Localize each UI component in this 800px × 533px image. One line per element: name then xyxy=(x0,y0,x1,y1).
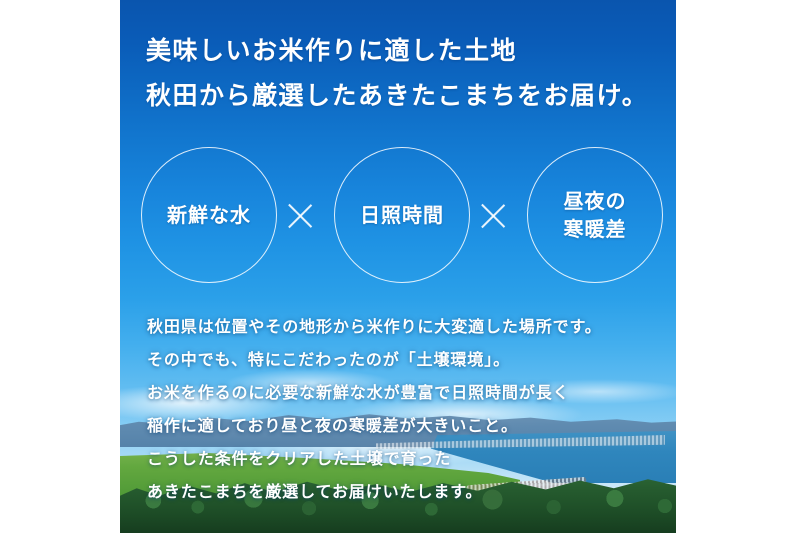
feature-circle-fresh-water: 新鮮な水 xyxy=(141,147,277,283)
promo-banner-panel: 美味しいお米作りに適した土地 秋田から厳選したあきたこまちをお届け。 新鮮な水 … xyxy=(120,0,676,533)
feature-circle-label-2: 日照時間 xyxy=(360,201,444,229)
page-canvas: 美味しいお米作りに適した土地 秋田から厳選したあきたこまちをお届け。 新鮮な水 … xyxy=(0,0,800,533)
body-line-3: お米を作るのに必要な新鮮な水が豊富で日照時間が長く xyxy=(147,376,602,409)
headline-line-1: 美味しいお米作りに適した土地 xyxy=(146,28,648,73)
feature-circle-label-3: 昼夜の 寒暖差 xyxy=(564,187,627,243)
headline: 美味しいお米作りに適した土地 秋田から厳選したあきたこまちをお届け。 xyxy=(146,28,648,118)
multiply-icon-2 xyxy=(477,200,509,232)
body-line-4: 稲作に適しており昼と夜の寒暖差が大きいこと。 xyxy=(147,409,602,442)
multiply-icon-1 xyxy=(284,200,316,232)
body-copy: 秋田県は位置やその地形から米作りに大変適した場所です。 その中でも、特にこだわっ… xyxy=(147,310,602,508)
body-line-5: こうした条件をクリアした土壌で育った xyxy=(147,442,602,475)
feature-circle-label-1: 新鮮な水 xyxy=(167,201,251,229)
body-line-1: 秋田県は位置やその地形から米作りに大変適した場所です。 xyxy=(147,310,602,343)
body-line-6: あきたこまちを厳選してお届けいたします。 xyxy=(147,475,602,508)
headline-line-2: 秋田から厳選したあきたこまちをお届け。 xyxy=(146,73,648,118)
feature-circle-sunshine-hours: 日照時間 xyxy=(334,147,470,283)
feature-circle-row: 新鮮な水 日照時間 昼夜の 寒暖差 xyxy=(120,147,676,287)
feature-circle-temperature-difference: 昼夜の 寒暖差 xyxy=(527,147,663,283)
body-line-2: その中でも、特にこだわったのが「土壌環境」。 xyxy=(147,343,602,376)
